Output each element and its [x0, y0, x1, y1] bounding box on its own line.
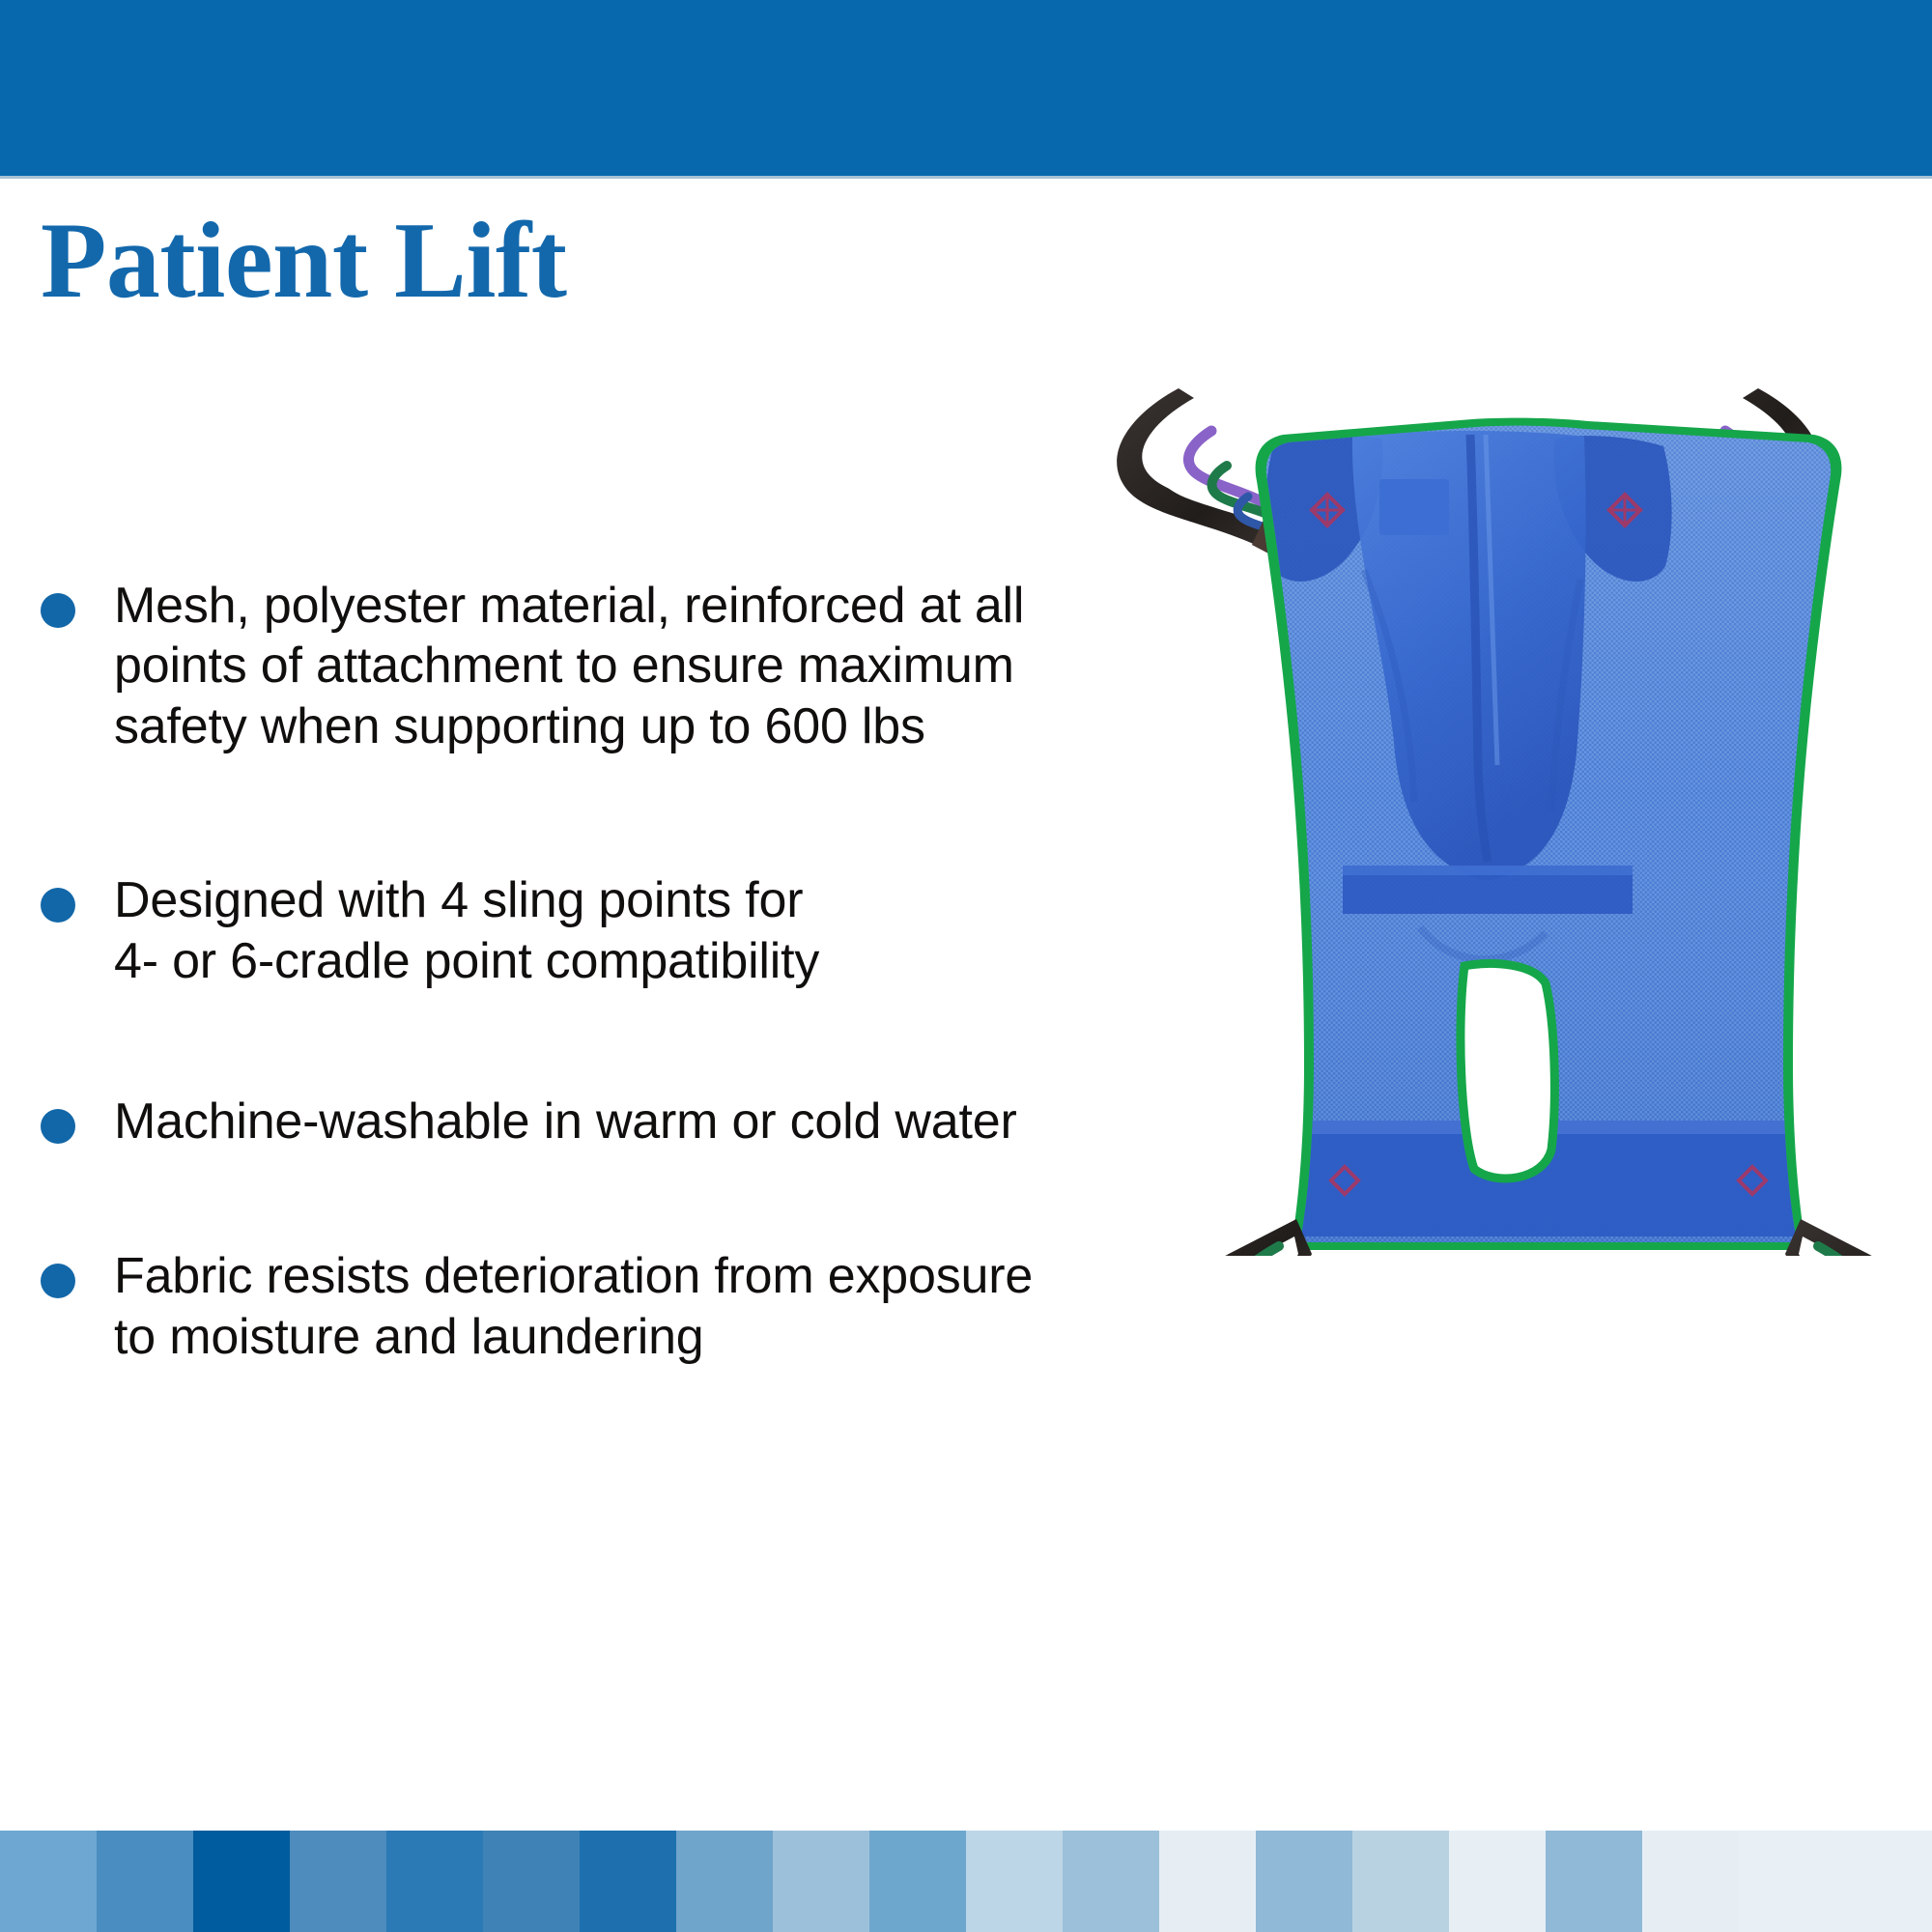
sling-commode-cutout [1461, 963, 1554, 1179]
sling-body [1246, 406, 1864, 1256]
bullet-mesh-material: Mesh, polyester material, reinforced at … [35, 576, 1001, 756]
color-swatch-3 [290, 1831, 386, 1932]
color-swatch-6 [580, 1831, 676, 1932]
bullet-line: Machine-washable in warm or cold water [114, 1092, 1001, 1151]
color-swatch-19 [1835, 1831, 1932, 1932]
bullet-line: Designed with 4 sling points for [114, 870, 1001, 930]
bullet-spacer [35, 991, 1001, 1092]
color-swatch-17 [1642, 1831, 1739, 1932]
bullet-machine-washable: Machine-washable in warm or cold water [35, 1092, 1001, 1151]
bottom-color-strip [0, 1831, 1932, 1932]
page-title: Patient Lift [41, 201, 567, 322]
bullet-line: points of attachment to ensure maximum [114, 636, 1001, 696]
header-bar [0, 0, 1932, 176]
bullet-line: Mesh, polyester material, reinforced at … [114, 576, 1001, 636]
bullet-dot-icon [41, 593, 75, 628]
bullet-line: safety when supporting up to 600 lbs [114, 696, 1001, 756]
bullet-dot-icon [41, 888, 75, 923]
bullet-line: to moisture and laundering [114, 1307, 1001, 1367]
patient-lift-sling-photo [1005, 386, 1932, 1256]
color-swatch-1 [97, 1831, 193, 1932]
color-swatch-13 [1256, 1831, 1352, 1932]
bullet-dot-icon [41, 1264, 75, 1298]
bullet-line: Fabric resists deterioration from exposu… [114, 1246, 1001, 1306]
bullet-sling-points: Designed with 4 sling points for 4- or 6… [35, 870, 1001, 991]
color-swatch-0 [0, 1831, 97, 1932]
color-swatch-18 [1739, 1831, 1835, 1932]
color-swatch-8 [773, 1831, 869, 1932]
bullet-line: 4- or 6-cradle point compatibility [114, 931, 1001, 991]
color-swatch-4 [386, 1831, 483, 1932]
color-swatch-16 [1546, 1831, 1642, 1932]
slide-canvas: Patient Lift Mesh, polyester material, r… [0, 0, 1932, 1932]
bullet-dot-icon [41, 1109, 75, 1144]
bullet-spacer [35, 756, 1001, 870]
color-swatch-2 [193, 1831, 290, 1932]
color-swatch-15 [1449, 1831, 1546, 1932]
sling-label-tab [1379, 479, 1449, 535]
color-swatch-11 [1063, 1831, 1159, 1932]
feature-bullet-list: Mesh, polyester material, reinforced at … [35, 576, 1001, 1367]
bullet-spacer [35, 1151, 1001, 1246]
color-swatch-7 [676, 1831, 773, 1932]
color-swatch-10 [966, 1831, 1063, 1932]
color-swatch-5 [483, 1831, 580, 1932]
color-swatch-9 [869, 1831, 966, 1932]
header-underline [0, 176, 1932, 179]
color-swatch-14 [1352, 1831, 1449, 1932]
color-swatch-12 [1159, 1831, 1256, 1932]
bullet-fabric-resists: Fabric resists deterioration from exposu… [35, 1246, 1001, 1367]
